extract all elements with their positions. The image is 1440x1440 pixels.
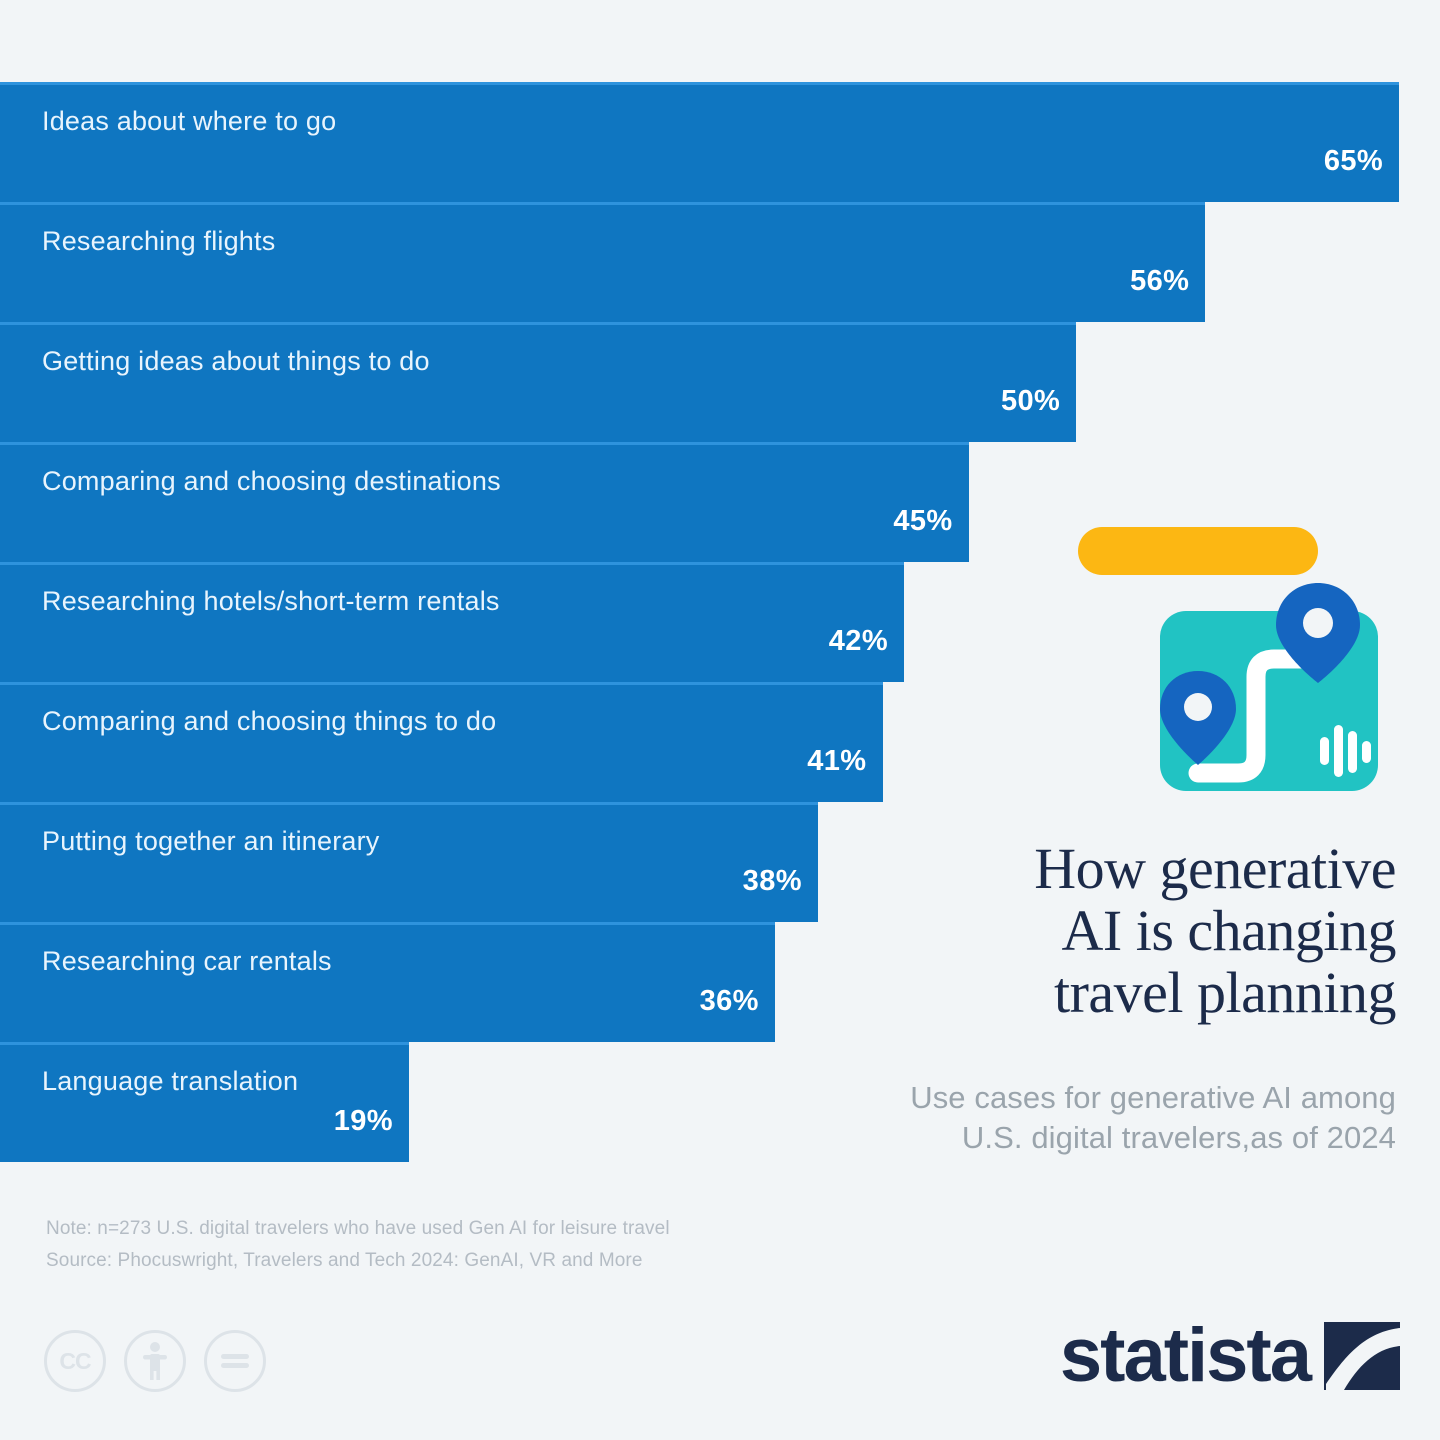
headline-line-2: AI is changing	[926, 900, 1396, 962]
bar-value-label: 41%	[783, 745, 867, 778]
source-text: Source: Phocuswright, Travelers and Tech…	[46, 1245, 670, 1277]
bar-category-label: Comparing and choosing destinations	[42, 466, 501, 497]
bar-category-label: Language translation	[42, 1066, 298, 1097]
headline-line-1: How generative	[926, 838, 1396, 900]
bar	[0, 322, 1076, 442]
headline-line-3: travel planning	[926, 962, 1396, 1024]
bar	[0, 202, 1205, 322]
bar	[0, 802, 818, 922]
no-derivatives-icon[interactable]	[204, 1330, 266, 1392]
cc-icon-label: CC	[59, 1348, 90, 1375]
bar-value-label: 36%	[675, 985, 759, 1018]
bar-category-label: Researching car rentals	[42, 946, 332, 977]
bar-category-label: Researching hotels/short-term rentals	[42, 586, 500, 617]
bar-row: Getting ideas about things to do50%	[0, 322, 1440, 442]
subhead-line-1: Use cases for generative AI among	[716, 1078, 1396, 1118]
bar	[0, 562, 904, 682]
bar-category-label: Researching flights	[42, 226, 275, 257]
footnotes: Note: n=273 U.S. digital travelers who h…	[46, 1213, 670, 1278]
bar-value-label: 38%	[718, 865, 802, 898]
infographic-page: Ideas about where to go65%Researching fl…	[0, 0, 1440, 1440]
attribution-icon[interactable]	[124, 1330, 186, 1392]
page-title: How generative AI is changing travel pla…	[926, 838, 1396, 1024]
bar	[0, 922, 775, 1042]
license-icons: CC	[44, 1330, 266, 1392]
bar-category-label: Putting together an itinerary	[42, 826, 380, 857]
bar	[0, 442, 969, 562]
bar-row: Ideas about where to go65%	[0, 82, 1440, 202]
bar-category-label: Comparing and choosing things to do	[42, 706, 496, 737]
subhead-line-2: U.S. digital travelers,as of 2024	[716, 1118, 1396, 1158]
statista-logo[interactable]: statista	[1060, 1322, 1400, 1390]
bar-value-label: 56%	[1105, 265, 1189, 298]
bar-category-label: Getting ideas about things to do	[42, 346, 430, 377]
bar-category-label: Ideas about where to go	[42, 106, 336, 137]
page-subtitle: Use cases for generative AI among U.S. d…	[716, 1078, 1396, 1159]
bar-row: Researching flights56%	[0, 202, 1440, 322]
bar	[0, 1042, 409, 1162]
statista-wordmark: statista	[1060, 1322, 1310, 1390]
bar-value-label: 19%	[309, 1105, 393, 1138]
bar-value-label: 50%	[976, 385, 1060, 418]
bar-value-label: 42%	[804, 625, 888, 658]
bar	[0, 682, 883, 802]
bar	[0, 82, 1399, 202]
bar-value-label: 65%	[1299, 145, 1383, 178]
cc-icon[interactable]: CC	[44, 1330, 106, 1392]
bar-value-label: 45%	[869, 505, 953, 538]
statista-swoosh-mark	[1324, 1322, 1400, 1390]
travel-map-route-illustration	[1070, 515, 1415, 815]
orange-bar-shape	[1078, 527, 1318, 575]
note-text: Note: n=273 U.S. digital travelers who h…	[46, 1213, 670, 1245]
